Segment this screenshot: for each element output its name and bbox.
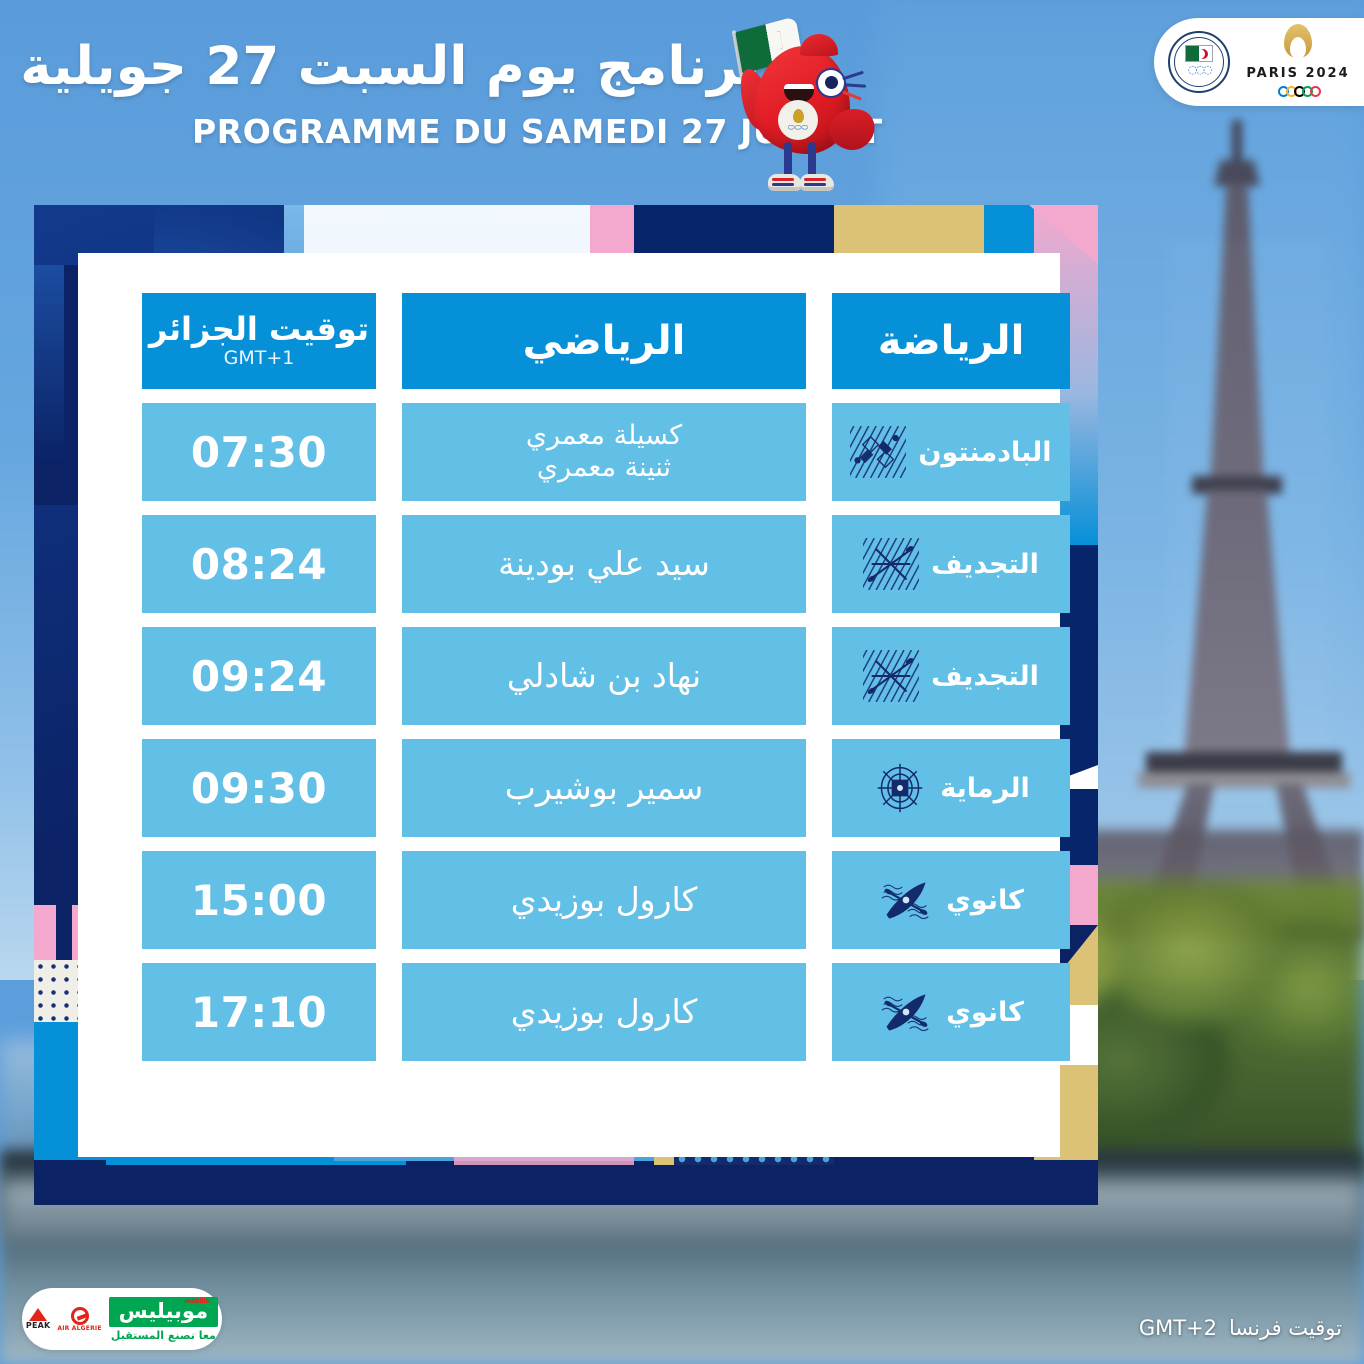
- table-row: كانوي كارول بوزيدي 15:00: [138, 851, 1070, 949]
- cell-time: 15:00: [142, 851, 376, 949]
- athlete-name-line: سيد علي بودينة: [498, 545, 710, 584]
- athlete-name: سمير بوشيرب: [495, 769, 714, 808]
- table-row: التجديف سيد علي بودينة 08:24: [138, 515, 1070, 613]
- sport-label: التجديف: [931, 661, 1039, 692]
- air-algerie-label: AIR ALGERIE: [57, 1325, 101, 1332]
- cell-sport: التجديف: [832, 515, 1070, 613]
- page-title-arabic: برنامج يوم السبت 27 جويلية: [200, 36, 760, 97]
- athlete-name-line: سمير بوشيرب: [505, 769, 704, 808]
- cell-time: 09:24: [142, 627, 376, 725]
- cell-time: 08:24: [142, 515, 376, 613]
- table-header-row: الرياضة الرياضي توقيت الجزائر GMT+1: [138, 293, 1070, 389]
- cell-athlete: كارول بوزيدي: [402, 851, 806, 949]
- badminton-pictogram: [850, 426, 906, 478]
- schedule-table: الرياضة الرياضي توقيت الجزائر GMT+1 البا…: [138, 293, 1070, 1061]
- canoe-pictogram: [878, 986, 934, 1038]
- cell-sport: البادمنتون: [832, 403, 1070, 501]
- mobilis-logo-icon: mobilis موبيليس معا نصنع المستقبل: [109, 1297, 218, 1342]
- algerian-olympic-committee-icon: ◌◌◌: [1168, 31, 1230, 93]
- table-row: كانوي كارول بوزيدي 17:10: [138, 963, 1070, 1061]
- canoe-pictogram: [878, 874, 934, 926]
- event-time: 08:24: [191, 540, 327, 589]
- cell-sport: الرماية: [832, 739, 1070, 837]
- column-header-athlete-label: الرياضي: [523, 321, 686, 361]
- logo-badge: ◌◌◌ PARIS 2024: [1154, 18, 1364, 106]
- cell-time: 07:30: [142, 403, 376, 501]
- eiffel-tower: [1128, 120, 1360, 910]
- athlete-name: كسيلة معمريثنينة معمري: [516, 420, 692, 484]
- sport-label: الرماية: [940, 773, 1030, 804]
- france-time-label: توقيت فرنسا: [1229, 1316, 1342, 1340]
- table-row: الرماية سمير بوشيرب 09:30: [138, 739, 1070, 837]
- athlete-name-line: كارول بوزيدي: [511, 881, 698, 920]
- sport-label: كانوي: [946, 997, 1024, 1028]
- sport-label: البادمنتون: [918, 437, 1051, 468]
- cell-time: 17:10: [142, 963, 376, 1061]
- poster-header: برنامج يوم السبت 27 جويلية PROGRAMME DU …: [0, 0, 1364, 205]
- schedule-card: الرياضة الرياضي توقيت الجزائر GMT+1 البا…: [78, 253, 1060, 1157]
- paris-2024-logo: PARIS 2024: [1246, 24, 1349, 101]
- sponsor-logos: PEAK AIR ALGERIE mobilis موبيليس معا نصن…: [22, 1288, 222, 1350]
- olympic-rings-icon: [1278, 83, 1318, 101]
- column-header-sport: الرياضة: [832, 293, 1070, 389]
- rowing-pictogram: [863, 538, 919, 590]
- athlete-name-line: نهاد بن شادلي: [507, 657, 701, 696]
- column-header-time: توقيت الجزائر GMT+1: [142, 293, 376, 389]
- column-header-athlete: الرياضي: [402, 293, 806, 389]
- sport-label: كانوي: [946, 885, 1024, 916]
- cell-athlete: كارول بوزيدي: [402, 963, 806, 1061]
- peak-label: PEAK: [26, 1321, 51, 1330]
- poster-root: برنامج يوم السبت 27 جويلية PROGRAMME DU …: [0, 0, 1364, 1364]
- event-time: 09:30: [191, 764, 327, 813]
- event-time: 15:00: [191, 876, 327, 925]
- column-header-time-gmt: GMT+1: [224, 347, 295, 369]
- peak-logo-icon: PEAK: [26, 1308, 51, 1330]
- cell-athlete: كسيلة معمريثنينة معمري: [402, 403, 806, 501]
- page-title-french: PROGRAMME DU SAMEDI 27 JUILLET: [192, 112, 752, 151]
- athlete-name: كارول بوزيدي: [501, 881, 708, 920]
- air-algerie-logo-icon: AIR ALGERIE: [57, 1307, 101, 1332]
- olympic-phryge-mascot-icon: ⬭⬭⬭: [726, 12, 876, 192]
- france-time-gmt: GMT+2: [1139, 1316, 1217, 1340]
- cell-athlete: سيد علي بودينة: [402, 515, 806, 613]
- france-time-note: توقيت فرنسا GMT+2: [1139, 1316, 1342, 1340]
- cell-sport: كانوي: [832, 851, 1070, 949]
- event-time: 17:10: [191, 988, 327, 1037]
- athlete-name-line: ثنينة معمري: [526, 452, 682, 484]
- mobilis-wordmark: mobilis موبيليس: [109, 1297, 218, 1327]
- mobilis-tagline: معا نصنع المستقبل: [111, 1329, 216, 1342]
- paris2024-badge-icon: ⬭⬭⬭: [778, 100, 818, 140]
- cell-sport: كانوي: [832, 963, 1070, 1061]
- athlete-name-line: كسيلة معمري: [526, 420, 682, 452]
- shooting-pictogram: [872, 762, 928, 814]
- cell-time: 09:30: [142, 739, 376, 837]
- athlete-name: نهاد بن شادلي: [497, 657, 711, 696]
- mobilis-mini-label: mobilis: [185, 1299, 209, 1305]
- paris-2024-wordmark: PARIS 2024: [1246, 66, 1349, 81]
- cell-athlete: نهاد بن شادلي: [402, 627, 806, 725]
- cell-sport: التجديف: [832, 627, 1070, 725]
- column-header-time-label: توقيت الجزائر: [149, 313, 369, 345]
- table-row: التجديف نهاد بن شادلي 09:24: [138, 627, 1070, 725]
- rowing-pictogram: [863, 650, 919, 702]
- event-time: 07:30: [191, 428, 327, 477]
- cell-athlete: سمير بوشيرب: [402, 739, 806, 837]
- table-body: البادمنتون كسيلة معمريثنينة معمري 07:30: [138, 403, 1070, 1061]
- sport-label: التجديف: [931, 549, 1039, 580]
- paris2024-flame-icon: [1278, 24, 1318, 64]
- schedule-panel: الرياضة الرياضي توقيت الجزائر GMT+1 البا…: [34, 205, 1098, 1205]
- table-row: البادمنتون كسيلة معمريثنينة معمري 07:30: [138, 403, 1070, 501]
- athlete-name: كارول بوزيدي: [501, 993, 708, 1032]
- column-header-sport-label: الرياضة: [878, 321, 1025, 361]
- athlete-name-line: كارول بوزيدي: [511, 993, 698, 1032]
- event-time: 09:24: [191, 652, 327, 701]
- athlete-name: سيد علي بودينة: [488, 545, 720, 584]
